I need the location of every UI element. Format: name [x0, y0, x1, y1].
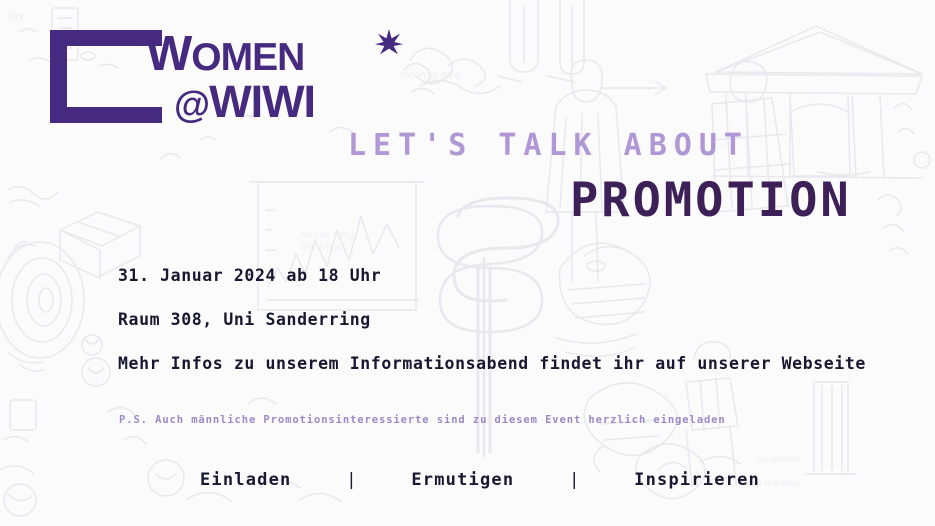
tagline-separator-2: |: [569, 470, 579, 490]
tagline-separator-1: |: [346, 470, 356, 490]
doodle-spiral: [0, 242, 84, 371]
svg-text:Ab cde fghij: Ab cde fghij: [300, 231, 353, 241]
logo-wiwi-letters: WIWI: [209, 76, 315, 127]
event-location: Raum 308, Uni Sanderring: [118, 310, 878, 329]
tagline-inspirieren: Inspirieren: [634, 470, 760, 490]
event-details: 31. Januar 2024 ab 18 Uhr Raum 308, Uni …: [118, 266, 878, 373]
headline-title: PROMOTION: [570, 173, 852, 228]
ps-note: P.S. Auch männliche Promotionsinteressie…: [119, 414, 726, 426]
logo: WOMEN @WIWI: [50, 24, 380, 132]
tagline-einladen: Einladen: [200, 470, 291, 490]
tagline-ermutigen: Ermutigen: [411, 470, 514, 490]
event-more-info: Mehr Infos zu unserem Informationsabend …: [118, 354, 878, 373]
event-poster: 0rc: [0, 0, 935, 526]
logo-omen-letters: OMEN: [191, 36, 304, 79]
svg-text:nn mrtrnn: nn mrtrnn: [756, 455, 801, 465]
logo-wordmark: WOMEN @WIWI: [146, 24, 386, 132]
doodle-pillar: [760, 382, 878, 526]
logo-line-atwiwi: @WIWI: [174, 78, 315, 129]
asterisk-star-icon: [374, 28, 404, 58]
svg-text:mmnos mra: mmnos mra: [400, 70, 460, 81]
doodle-crowd: mmnos mra: [400, 48, 500, 94]
logo-w-letter: W: [146, 27, 191, 81]
event-date: 31. Januar 2024 ab 18 Uhr: [118, 266, 878, 285]
footer-tagline: Einladen | Ermutigen | Inspirieren: [200, 470, 760, 490]
at-sign-icon: @: [174, 84, 209, 125]
svg-text:0rc: 0rc: [8, 10, 25, 23]
svg-text:Oto Ohuo: Oto Ohuo: [300, 243, 343, 253]
doodle-figures-top: [498, 0, 666, 94]
doodle-misc-left: [0, 335, 110, 516]
headline-kicker: LET'S TALK ABOUT: [348, 128, 749, 163]
doodle-person-dress: [546, 60, 624, 282]
